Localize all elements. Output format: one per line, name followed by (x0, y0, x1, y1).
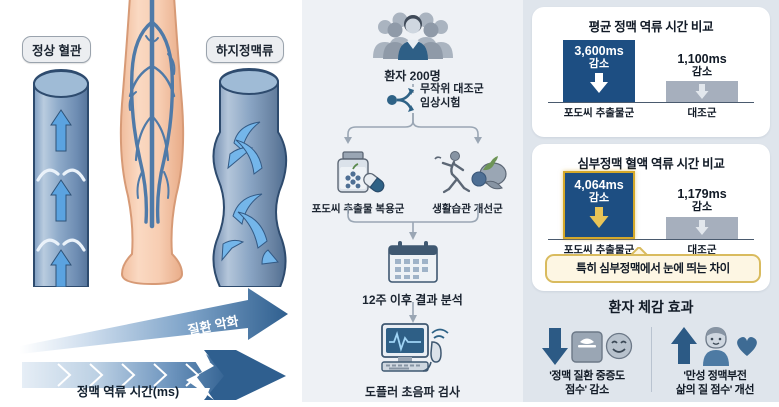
chart-title-2: 심부정맥 혈액 역류 시간 비교 (532, 144, 770, 172)
flow-step-patients: 환자 200명 (302, 10, 523, 84)
effect-severity-score: '정맥 질환 중증도 점수' 감소 (523, 323, 651, 398)
callout-deep-vein-note: 특히 심부정맥에서 눈에 띄는 차이 (545, 254, 761, 283)
bar-label-control-2: 1,179ms 감소 (666, 187, 738, 213)
down-arrow-icon (589, 73, 609, 93)
flow-connector-fork (342, 113, 484, 145)
bar-control-1 (666, 81, 738, 102)
effect-quality-of-life: '만성 정맥부전 삶의 질 점수' 개선 (651, 323, 779, 398)
down-arrow-icon (695, 84, 709, 99)
leg-anatomy-illustration (102, 0, 202, 301)
effect-severity-icons (523, 323, 651, 369)
flow-caption-rct: 무작위 대조군 임상시험 (420, 82, 484, 110)
normal-vessel-illustration (30, 62, 92, 287)
bar-value-treatment-1: 3,600ms (563, 44, 635, 58)
bar-suffix-treatment-1: 감소 (563, 58, 635, 70)
bar-suffix-treatment-2: 감소 (565, 192, 633, 204)
bar-label-control-1: 1,100ms 감소 (666, 52, 738, 78)
effects-title: 환자 체감 효과 (523, 297, 779, 317)
smiley-face-icon (605, 332, 633, 360)
arrow-bottom-label-text: 정맥 역류 시간(ms) (77, 384, 179, 399)
heart-icon (734, 334, 760, 358)
chart-baseline-2 (548, 239, 754, 241)
patient-effects-section: 환자 체감 효과 (523, 297, 779, 398)
exercise-vegetables-icon (429, 148, 507, 194)
bar-control-2 (666, 217, 738, 239)
bar-chart-2: 4,064ms 감소 1,179ms 감소 포도씨 추출물군 대조군 (532, 174, 770, 258)
pill-bottle-icon (327, 148, 389, 194)
ultrasound-machine-icon (370, 322, 456, 376)
down-arrow-icon (588, 207, 610, 228)
effect-severity-caption: '정맥 질환 중증도 점수' 감소 (523, 370, 651, 398)
down-arrow-icon (541, 324, 569, 368)
panel-study-flow: 환자 200명 무작위 대조군 임상시험 (302, 0, 523, 402)
effect-qol-caption: '만성 정맥부전 삶의 질 점수' 개선 (651, 370, 779, 398)
chart-card-deep-vein-reflux: 심부정맥 혈액 역류 시간 비교 4,064ms 감소 1,179ms (532, 144, 770, 291)
label-normal-vessel: 정상 혈관 (22, 36, 91, 63)
randomization-split-icon (386, 86, 420, 114)
flow-step-analysis: 12주 이후 결과 분석 (302, 240, 523, 308)
flow-step-doppler: 도플러 초음파 검사 (302, 322, 523, 400)
varicose-vessel-illustration (210, 62, 288, 287)
panel-results: 평균 정맥 역류 시간 비교 3,600ms 감소 1,100ms (523, 0, 779, 402)
panel-anatomy: 정상 혈관 하지정맥류 (0, 0, 302, 402)
bar-chart-1: 3,600ms 감소 1,100ms 감소 포도씨 추출물군 대조군 (532, 37, 770, 121)
bar-treatment-1: 3,600ms 감소 (563, 40, 635, 102)
axis-label-treatment-1: 포도씨 추출물군 (556, 105, 642, 120)
chart-title-1: 평균 정맥 역류 시간 비교 (532, 7, 770, 35)
progression-arrows: 질환 악화 정맥 역류 시간(ms) (0, 288, 302, 402)
bar-value-treatment-2: 4,064ms (565, 178, 633, 192)
infographic-root: 정상 혈관 하지정맥류 (0, 0, 779, 402)
effect-qol-icons (651, 323, 779, 369)
flow-caption-doppler: 도플러 초음파 검사 (302, 383, 523, 400)
label-varicose-vein: 하지정맥류 (206, 36, 284, 63)
people-group-icon (367, 10, 459, 60)
axis-label-control-1: 대조군 (664, 105, 740, 120)
flow-connector-merge (342, 205, 484, 241)
person-icon (699, 326, 733, 366)
up-arrow-icon (670, 324, 698, 368)
flow-connector-2 (406, 302, 420, 324)
weight-scale-icon (570, 328, 604, 364)
chart-baseline-1 (548, 102, 754, 104)
bar-treatment-2: 4,064ms 감소 (563, 171, 635, 239)
calendar-icon (385, 240, 441, 284)
chart-card-average-reflux: 평균 정맥 역류 시간 비교 3,600ms 감소 1,100ms (532, 7, 770, 137)
down-arrow-icon (695, 220, 709, 235)
